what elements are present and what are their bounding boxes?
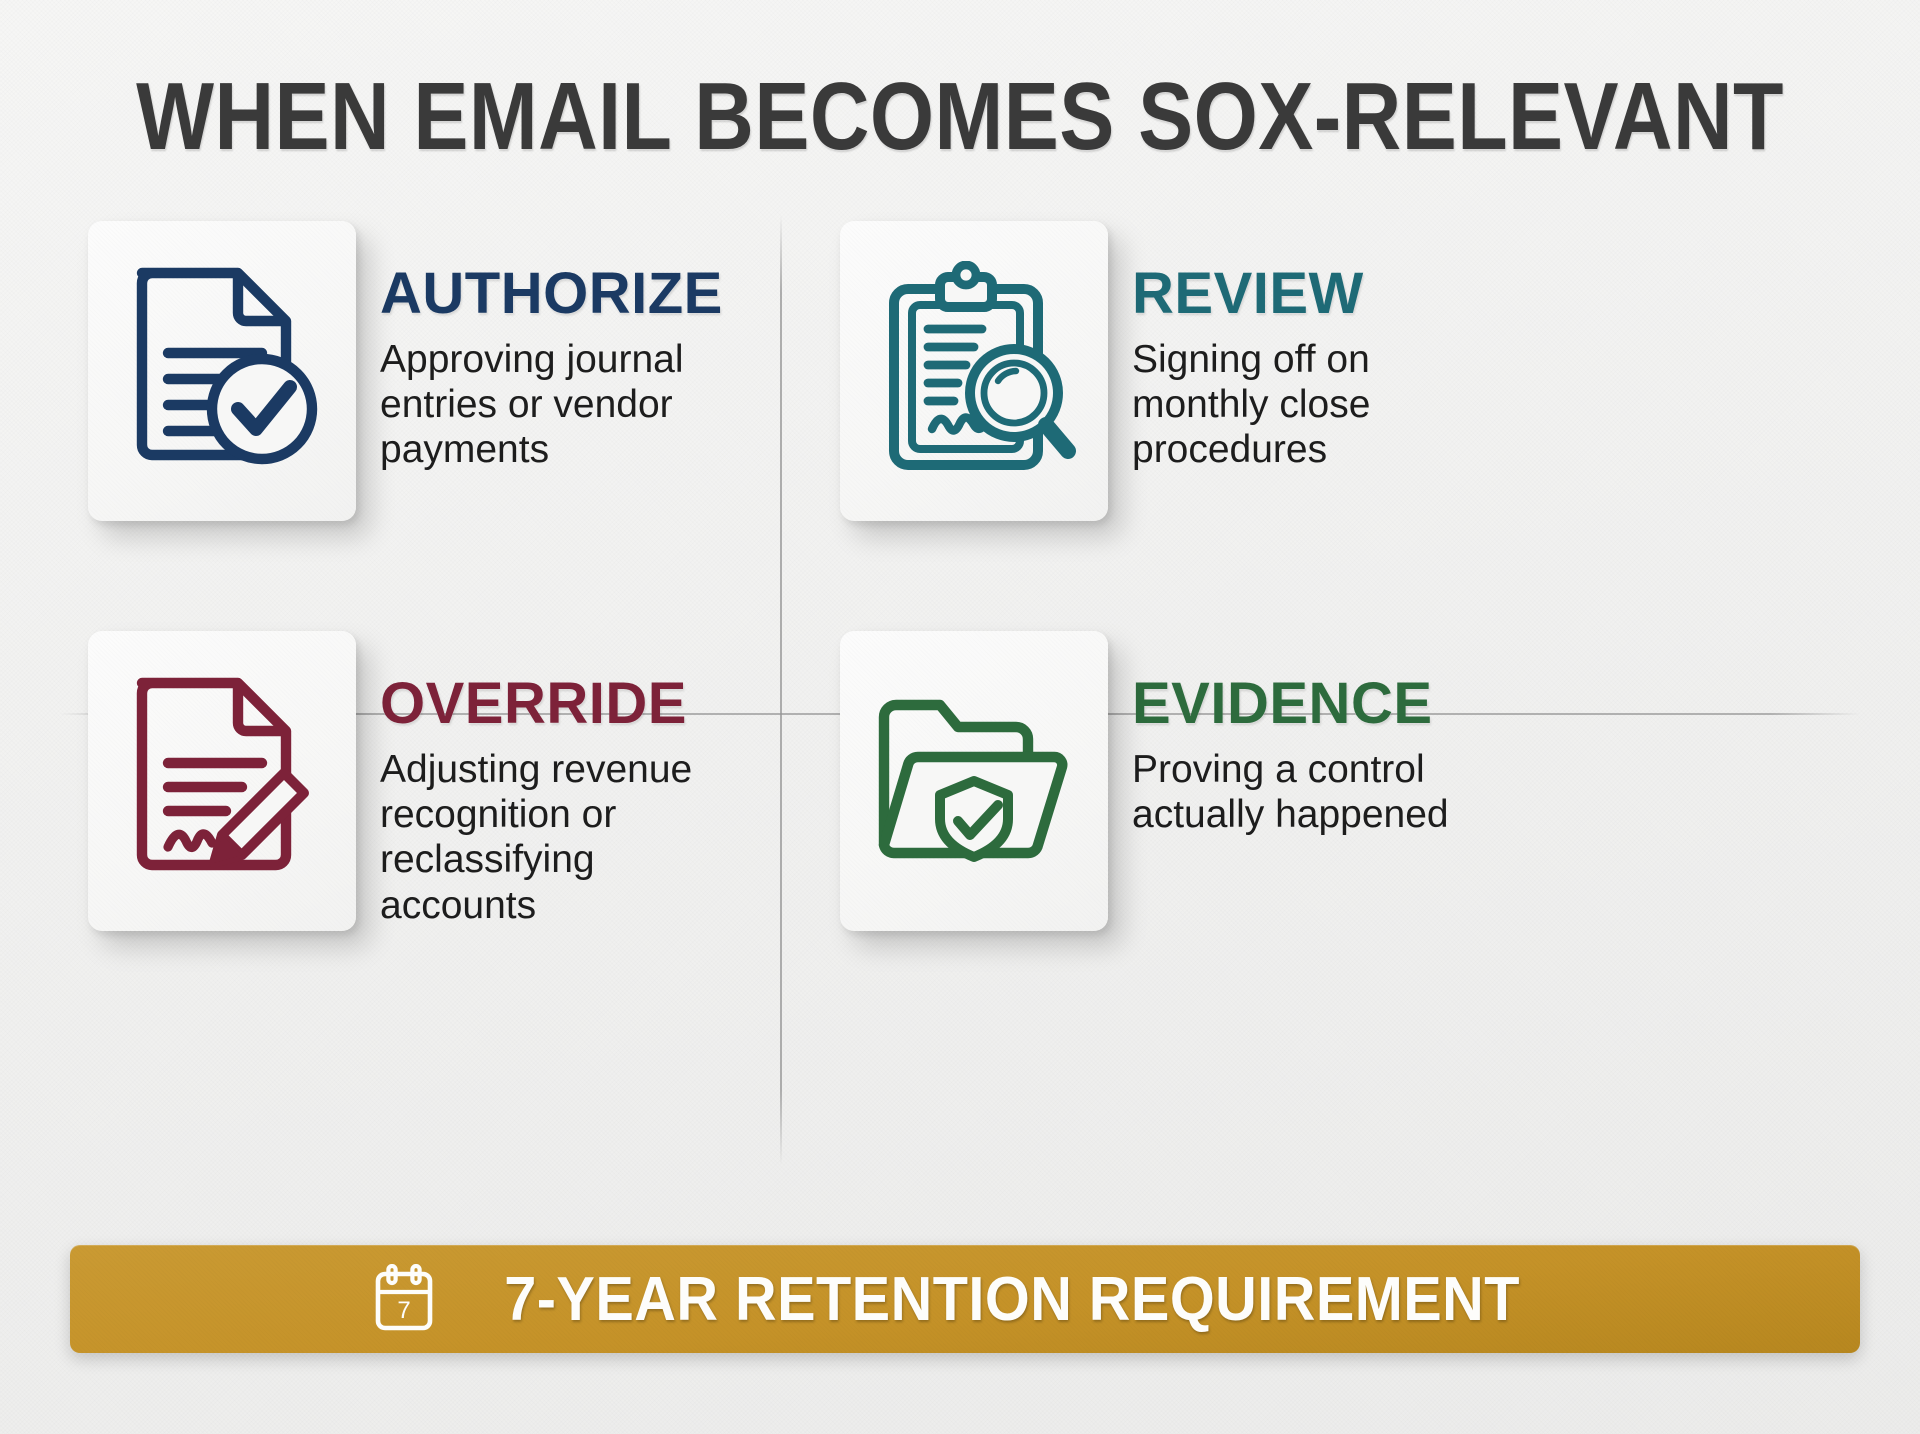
quadrant-heading-authorize: AUTHORIZE <box>380 265 740 323</box>
folder-shield-check-icon <box>868 681 1080 881</box>
quadrant-authorize: AUTHORIZE Approving journal entries or v… <box>88 221 768 521</box>
quadrant-heading-override: OVERRIDE <box>380 675 740 733</box>
quadrant-evidence: EVIDENCE Proving a control actually happ… <box>840 631 1540 931</box>
icon-tile-override <box>88 631 356 931</box>
quadrant-review: REVIEW Signing off on monthly close proc… <box>840 221 1540 521</box>
quadrant-description-authorize: Approving journal entries or vendor paym… <box>380 337 740 473</box>
page-title: WHEN EMAIL BECOMES SOX-RELEVANT <box>134 62 1785 172</box>
calendar-icon-wrap: 7 <box>372 1264 436 1334</box>
document-check-icon <box>118 261 326 481</box>
infographic-poster: WHEN EMAIL BECOMES SOX-RELEVANT <box>0 0 1920 1434</box>
quadrant-description-evidence: Proving a control actually happened <box>1132 747 1492 837</box>
icon-tile-review <box>840 221 1108 521</box>
quadrant-override: OVERRIDE Adjusting revenue recognition o… <box>88 631 768 931</box>
quadrant-heading-review: REVIEW <box>1132 265 1492 323</box>
vertical-divider <box>780 215 782 1165</box>
quadrant-heading-evidence: EVIDENCE <box>1132 675 1492 733</box>
retention-banner-text: 7-YEAR RETENTION REQUIREMENT <box>504 1264 1520 1335</box>
quadrant-description-override: Adjusting revenue recognition or reclass… <box>380 747 740 928</box>
text-block-evidence: EVIDENCE Proving a control actually happ… <box>1132 631 1492 837</box>
text-block-review: REVIEW Signing off on monthly close proc… <box>1132 221 1492 473</box>
document-pencil-signature-icon <box>118 671 326 891</box>
retention-banner: 7 7-YEAR RETENTION REQUIREMENT <box>70 1245 1860 1353</box>
icon-tile-authorize <box>88 221 356 521</box>
calendar-icon: 7 <box>372 1264 436 1334</box>
clipboard-magnifier-icon <box>870 261 1078 481</box>
calendar-number: 7 <box>397 1297 410 1324</box>
text-block-authorize: AUTHORIZE Approving journal entries or v… <box>380 221 740 473</box>
icon-tile-evidence <box>840 631 1108 931</box>
quadrant-grid: AUTHORIZE Approving journal entries or v… <box>70 215 1860 1215</box>
quadrant-description-review: Signing off on monthly close procedures <box>1132 337 1492 473</box>
text-block-override: OVERRIDE Adjusting revenue recognition o… <box>380 631 740 928</box>
